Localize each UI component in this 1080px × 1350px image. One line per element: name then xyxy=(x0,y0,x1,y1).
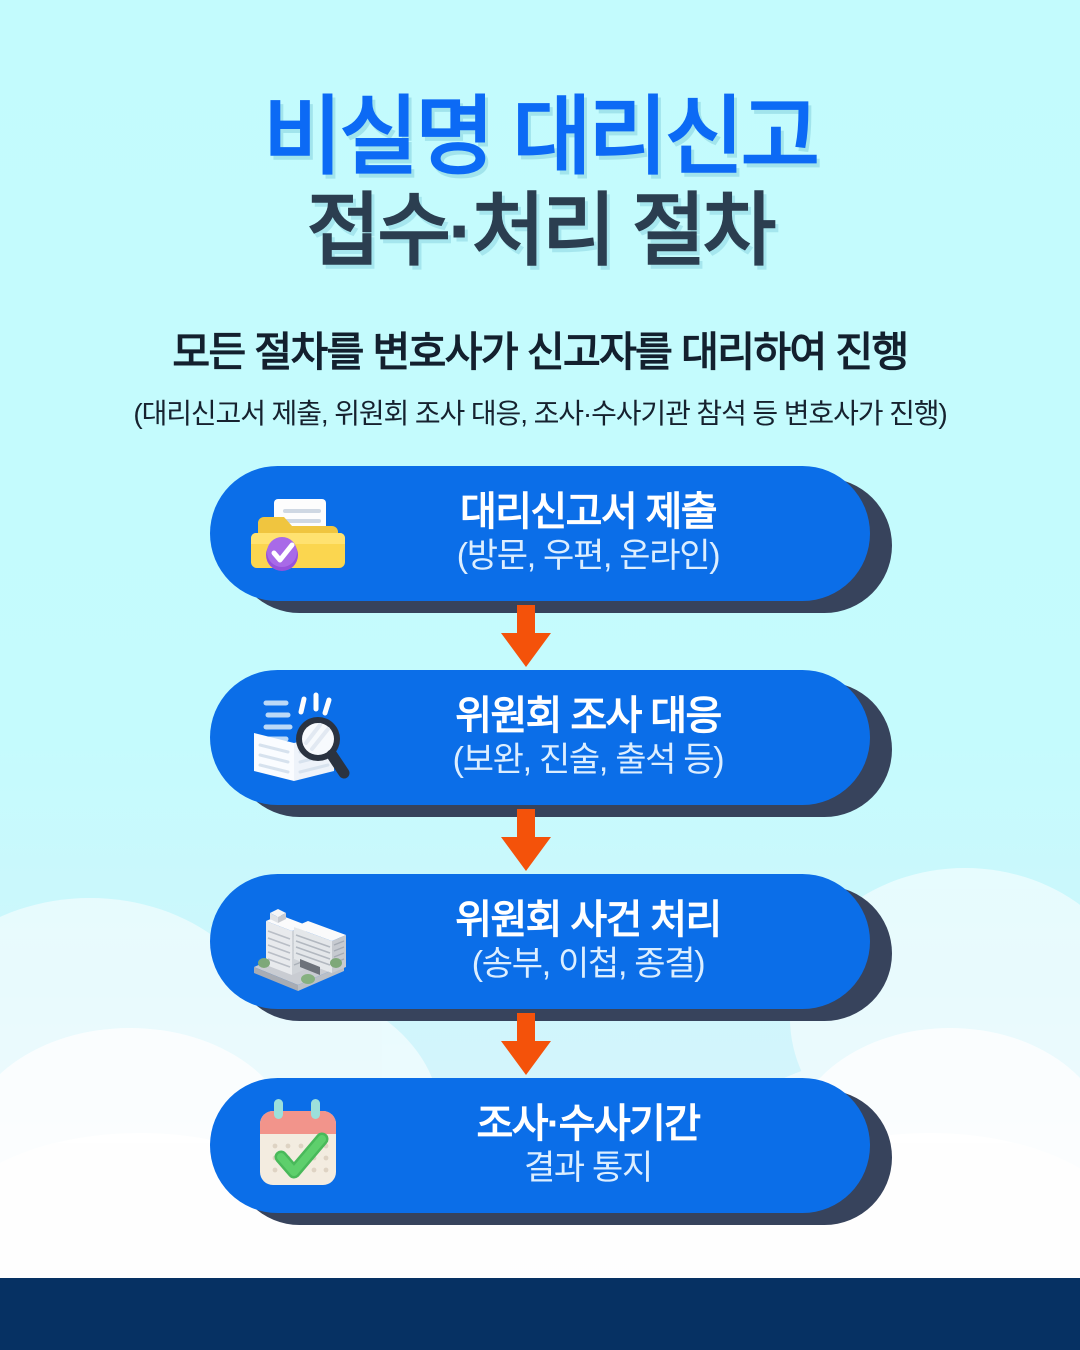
step-subtitle: (송부, 이첩, 종결) xyxy=(352,944,824,985)
subtitle-detail: (대리신고서 제출, 위원회 조사 대응, 조사·수사기관 참석 등 변호사가 … xyxy=(0,392,1080,432)
page-title: 비실명 대리신고 접수·처리 절차 xyxy=(0,92,1080,276)
step-subtitle: 결과 통지 xyxy=(352,1148,824,1189)
subtitle-main: 모든 절차를 변호사가 신고자를 대리하여 진행 xyxy=(0,318,1080,378)
arrow-down-icon xyxy=(491,809,561,871)
step-card[interactable]: 위원회 조사 대응 (보완, 진술, 출석 등) xyxy=(210,670,870,805)
flow-step-2[interactable]: 위원회 조사 대응 (보완, 진술, 출석 등) xyxy=(210,670,870,805)
step-card[interactable]: 위원회 사건 처리 (송부, 이첩, 종결) xyxy=(210,874,870,1009)
flow-step-3[interactable]: 위원회 사건 처리 (송부, 이첩, 종결) xyxy=(210,874,870,1009)
step-subtitle: (보완, 진술, 출석 등) xyxy=(352,740,824,781)
step-card[interactable]: 대리신고서 제출 (방문, 우편, 온라인) xyxy=(210,466,870,601)
step-title: 위원회 조사 대응 xyxy=(352,694,824,739)
step-text: 위원회 조사 대응 (보완, 진술, 출석 등) xyxy=(352,694,870,782)
calendar-check-icon xyxy=(244,1091,352,1199)
page-title-line-1: 비실명 대리신고 xyxy=(0,92,1080,182)
step-title: 위원회 사건 처리 xyxy=(352,898,824,943)
arrow-down-icon xyxy=(491,605,561,667)
subtitle: 모든 절차를 변호사가 신고자를 대리하여 진행 (대리신고서 제출, 위원회 … xyxy=(0,318,1080,432)
flow-step-1[interactable]: 대리신고서 제출 (방문, 우편, 온라인) xyxy=(210,466,870,601)
infographic-content: 비실명 대리신고 접수·처리 절차 모든 절차를 변호사가 신고자를 대리하여 … xyxy=(0,0,1080,1213)
folder-document-check-icon xyxy=(244,479,352,587)
step-card[interactable]: 조사·수사기간 결과 통지 xyxy=(210,1078,870,1213)
government-building-icon xyxy=(244,887,352,995)
arrow-down-icon xyxy=(491,1013,561,1075)
book-magnifier-icon xyxy=(244,683,352,791)
step-title: 대리신고서 제출 xyxy=(352,490,824,535)
footer-band xyxy=(0,1278,1080,1350)
flow-step-4[interactable]: 조사·수사기간 결과 통지 xyxy=(210,1078,870,1213)
process-flow: 대리신고서 제출 (방문, 우편, 온라인) xyxy=(0,466,1080,1213)
step-subtitle: (방문, 우편, 온라인) xyxy=(352,536,824,577)
step-title: 조사·수사기간 xyxy=(352,1102,824,1147)
step-text: 대리신고서 제출 (방문, 우편, 온라인) xyxy=(352,490,870,578)
step-text: 위원회 사건 처리 (송부, 이첩, 종결) xyxy=(352,898,870,986)
step-text: 조사·수사기간 결과 통지 xyxy=(352,1102,870,1190)
page-title-line-2: 접수·처리 절차 xyxy=(0,186,1080,276)
